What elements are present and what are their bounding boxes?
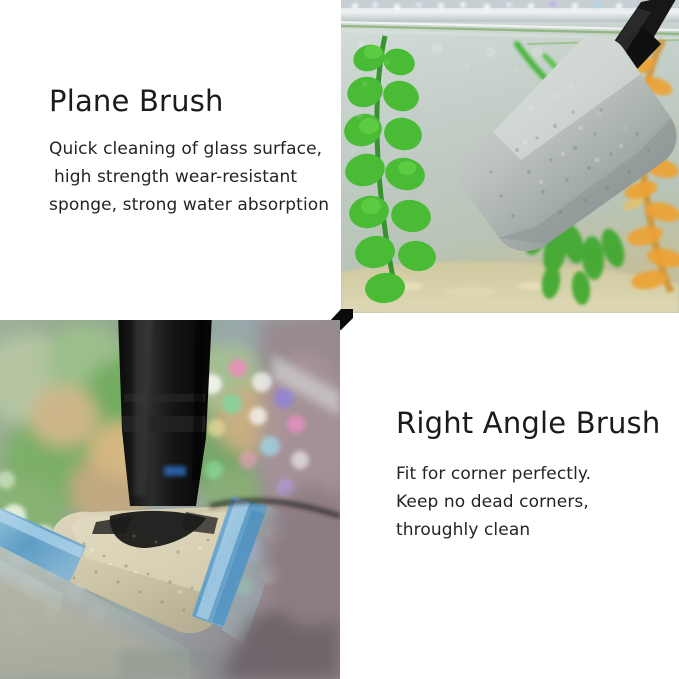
right-angle-brush-desc-line-3: throughly clean — [396, 516, 660, 544]
plane-brush-photo-art — [341, 0, 679, 313]
right-angle-brush-desc-line-1: Fit for corner perfectly. — [396, 460, 660, 488]
right-angle-brush-photo — [0, 320, 340, 679]
plane-brush-desc-line-3: sponge, strong water absorption — [49, 191, 329, 219]
plane-brush-description: Quick cleaning of glass surface, high st… — [49, 135, 329, 219]
product-feature-collage: Plane Brush Quick cleaning of glass surf… — [0, 0, 679, 679]
right-angle-brush-text-block: Right Angle Brush Fit for corner perfect… — [396, 408, 660, 544]
right-angle-brush-title: Right Angle Brush — [396, 408, 660, 440]
plane-brush-text-block: Plane Brush Quick cleaning of glass surf… — [49, 86, 329, 219]
plane-brush-photo — [341, 0, 679, 313]
plane-brush-title: Plane Brush — [49, 86, 329, 118]
right-angle-brush-description: Fit for corner perfectly. Keep no dead c… — [396, 460, 660, 544]
right-angle-brush-photo-art — [0, 320, 340, 679]
right-angle-brush-desc-line-2: Keep no dead corners, — [396, 488, 660, 516]
plane-brush-desc-line-1: Quick cleaning of glass surface, — [49, 135, 329, 163]
plane-brush-desc-line-2: high strength wear-resistant — [49, 163, 329, 191]
